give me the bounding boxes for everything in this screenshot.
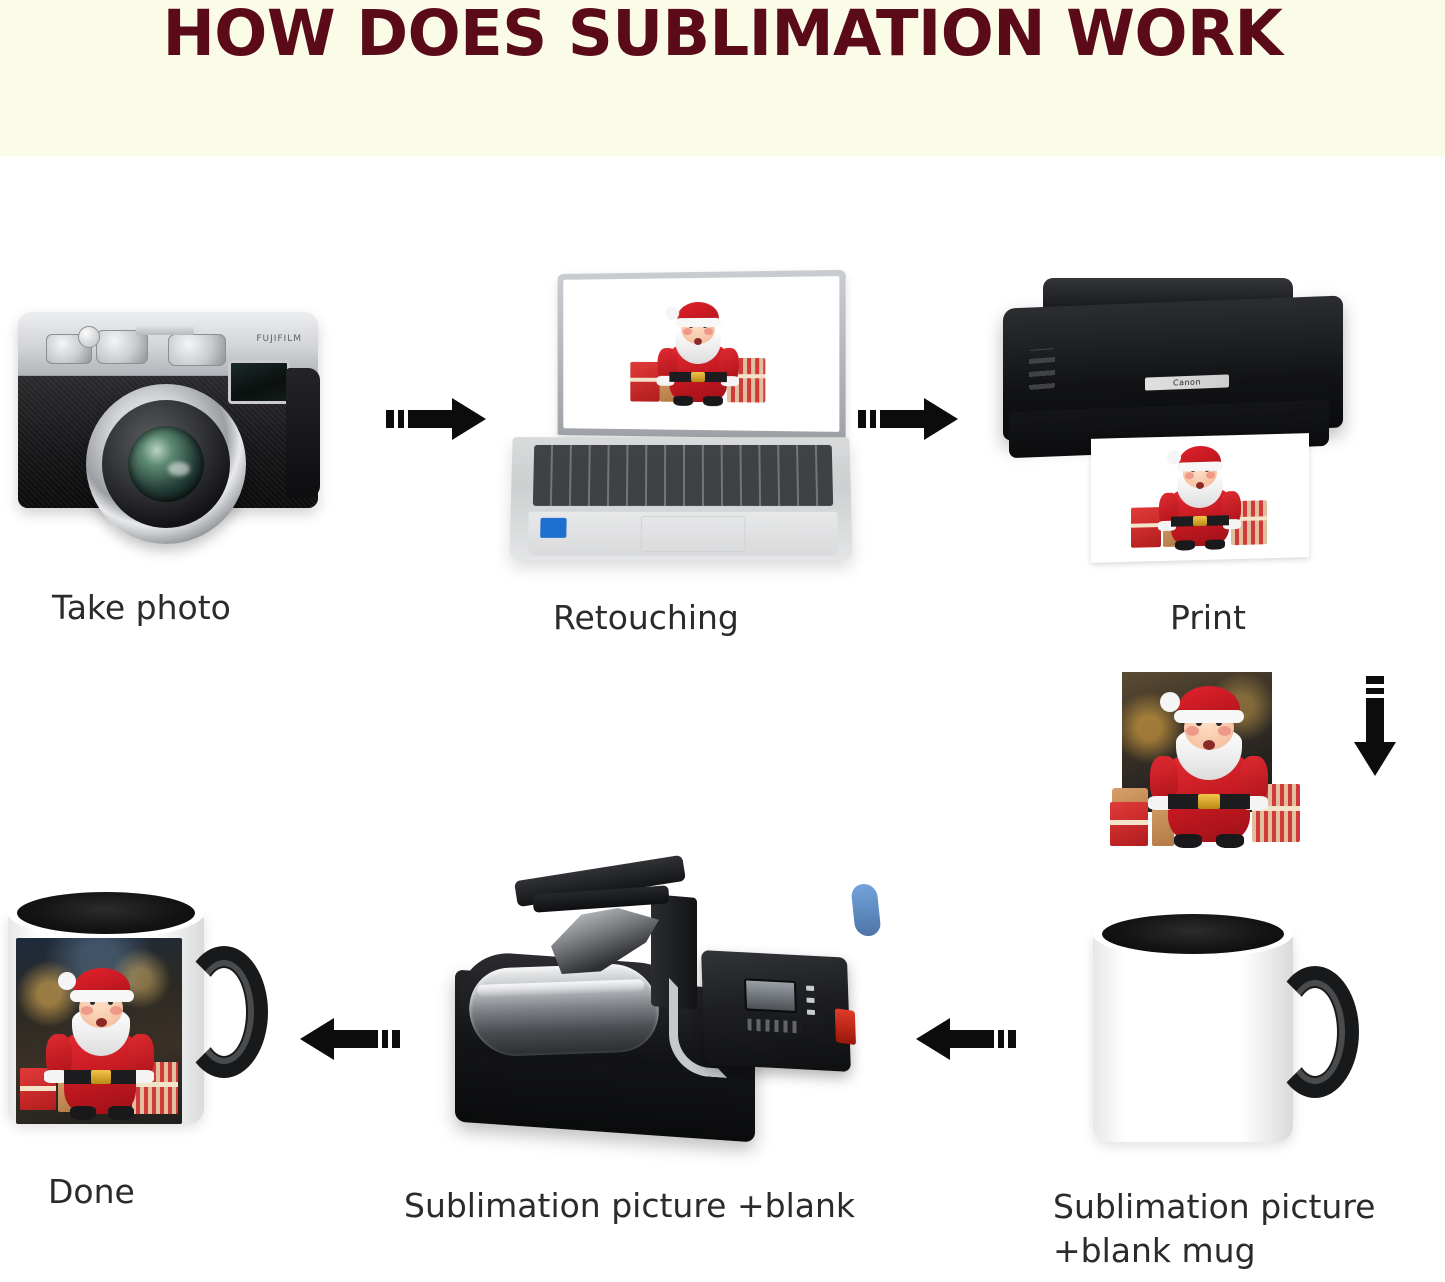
printer-buttons bbox=[1029, 348, 1055, 390]
label-heat-press: Sublimation picture +blank bbox=[404, 1184, 855, 1228]
heat-press-control-panel[interactable] bbox=[701, 950, 851, 1072]
laptop-screen-artwork bbox=[563, 276, 839, 432]
laptop-computer-icon bbox=[505, 272, 855, 562]
label-print: Print bbox=[1170, 596, 1246, 640]
label-take-photo: Take photo bbox=[52, 586, 231, 630]
finished-mug-icon bbox=[2, 862, 302, 1172]
page-title: HOW DOES SUBLIMATION WORK bbox=[7, 0, 1438, 70]
label-retouching: Retouching bbox=[553, 596, 739, 640]
arrow-laptop-to-printer-icon bbox=[858, 396, 958, 442]
intel-sticker-icon bbox=[540, 518, 567, 538]
header-banner: HOW DOES SUBLIMATION WORK bbox=[0, 0, 1445, 156]
arrow-press-to-done-icon bbox=[300, 1016, 400, 1062]
laptop-trackpad bbox=[641, 516, 746, 552]
label-blank-mug-line1: Sublimation picture bbox=[1053, 1184, 1375, 1230]
arrow-camera-to-laptop-icon bbox=[386, 396, 486, 442]
sublimation-sticker-icon bbox=[1100, 672, 1312, 864]
label-blank-mug-line2: +blank mug bbox=[1053, 1228, 1256, 1274]
blank-mug-icon bbox=[1085, 880, 1385, 1180]
label-done: Done bbox=[48, 1170, 135, 1214]
arrow-mug-to-press-icon bbox=[916, 1016, 1016, 1062]
printed-sheet bbox=[1091, 433, 1309, 563]
temperature-display bbox=[744, 978, 797, 1013]
mug-printed-artwork bbox=[16, 938, 182, 1124]
camera-photo-icon: FUJIFILM bbox=[10, 268, 330, 558]
mug-heat-press-icon bbox=[455, 862, 875, 1162]
infographic-page: HOW DOES SUBLIMATION WORK FUJIFILM Take … bbox=[0, 0, 1445, 1282]
inkjet-printer-icon: Canon bbox=[995, 278, 1355, 578]
power-switch[interactable] bbox=[835, 1008, 856, 1045]
arrow-printer-to-sticker-icon bbox=[1352, 676, 1398, 776]
control-buttons[interactable] bbox=[747, 1018, 801, 1033]
